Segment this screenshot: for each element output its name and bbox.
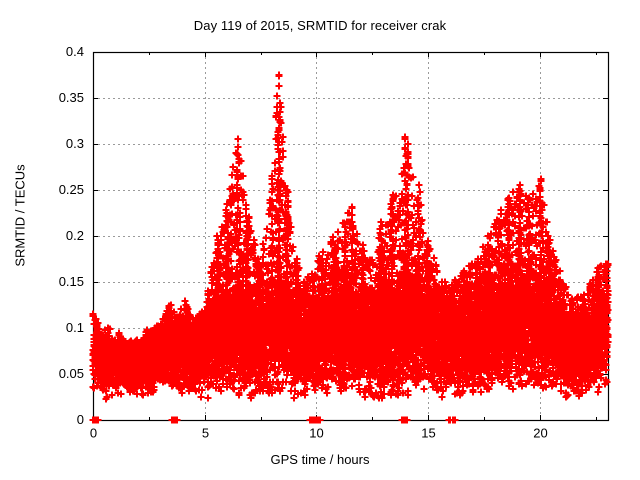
y-tick-label: 0.1 [66,320,84,335]
y-tick-label: 0.3 [66,136,84,151]
chart-root: Day 119 of 2015, SRMTID for receiver cra… [0,0,640,480]
x-tick-label: 5 [202,426,209,441]
y-tick-label: 0.05 [59,366,84,381]
plot-area: 00.050.10.150.20.250.30.350.405101520 [0,0,640,480]
plot-canvas: 00.050.10.150.20.250.30.350.405101520 [0,0,640,480]
y-tick-label: 0.25 [59,182,84,197]
x-tick-label: 20 [533,426,547,441]
y-tick-label: 0.4 [66,44,84,59]
y-tick-label: 0.2 [66,228,84,243]
x-tick-label: 0 [90,426,97,441]
x-tick-label: 10 [309,426,323,441]
x-tick-label: 15 [421,426,435,441]
y-tick-label: 0.15 [59,274,84,289]
data-points [90,72,612,424]
y-tick-label: 0 [77,412,84,427]
y-tick-label: 0.35 [59,90,84,105]
